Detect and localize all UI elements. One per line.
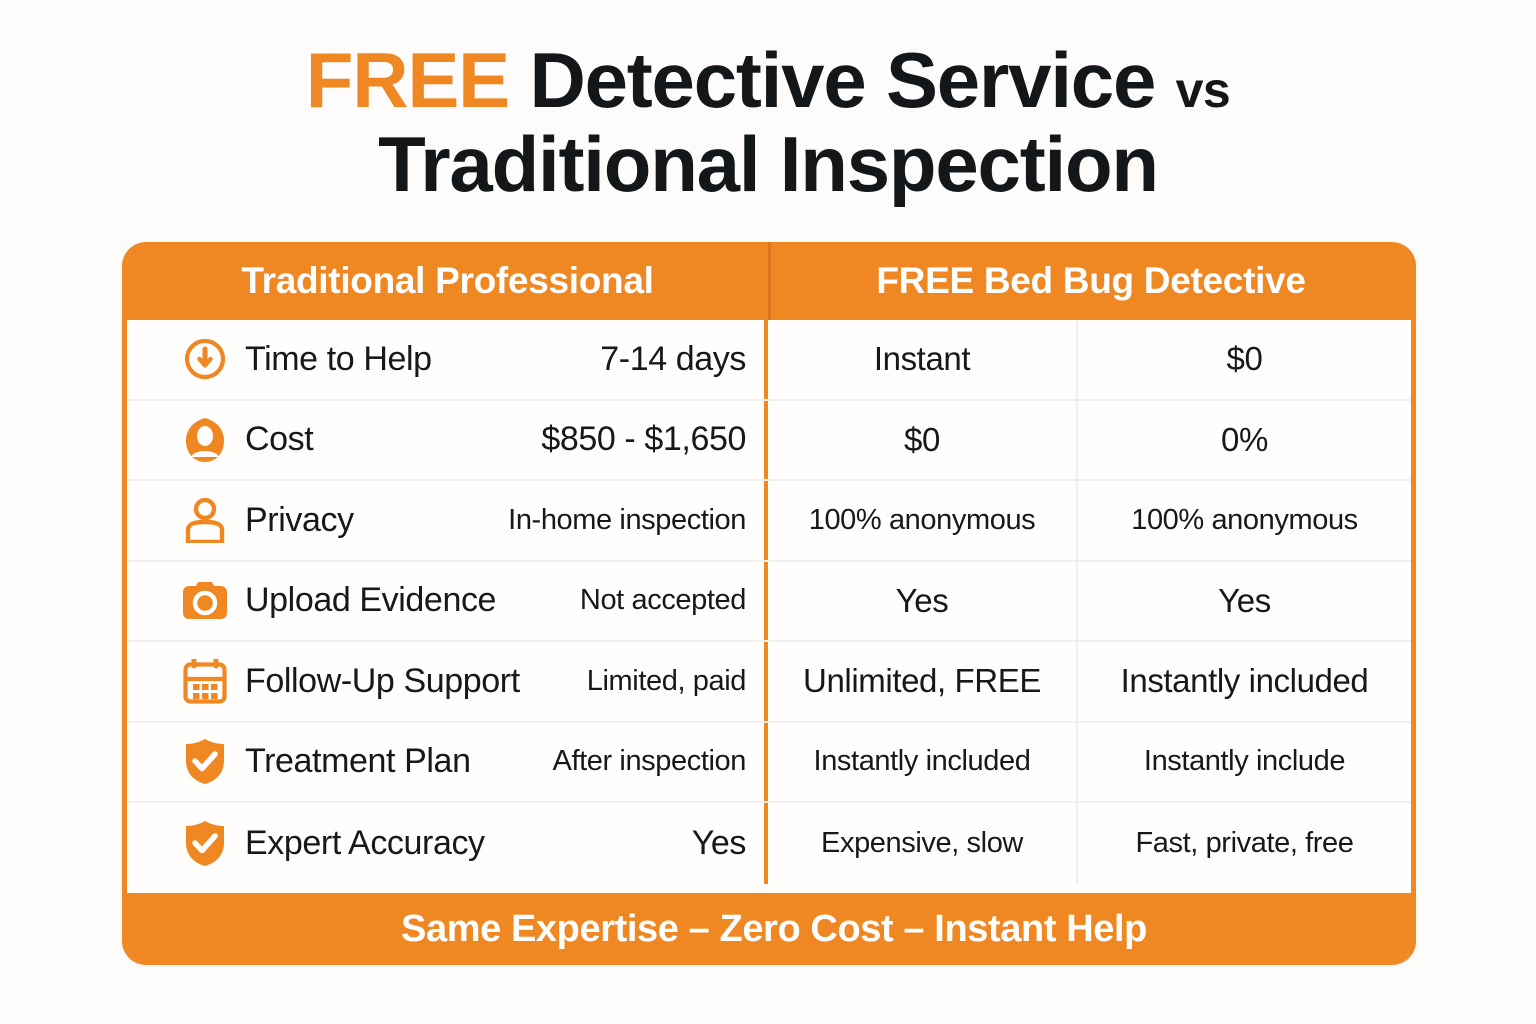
row-value-traditional: Not accepted	[580, 584, 746, 617]
row-value-extra: Fast, private, free	[1076, 803, 1411, 884]
clock-down-arrow-icon	[181, 335, 229, 383]
page-title: FREE Detective Service vs Traditional In…	[0, 38, 1536, 206]
comparison-table-card: Traditional Professional FREE Bed Bug De…	[122, 242, 1416, 965]
row-feature-cell: Expert Accuracy Yes	[127, 803, 768, 884]
row-feature-cell: Upload Evidence Not accepted	[127, 562, 768, 641]
table-row: Upload Evidence Not accepted Yes Yes	[127, 562, 1411, 643]
row-value-detective: Instantly included	[768, 723, 1076, 802]
row-value-traditional: Limited, paid	[587, 665, 746, 698]
table-row: Cost $850 - $1,650 $0 0%	[127, 401, 1411, 482]
row-value-traditional: After inspection	[553, 745, 747, 778]
row-feature-cell: Follow-Up Support Limited, paid	[127, 642, 768, 721]
page-title-line-1-rest: Detective Service	[509, 36, 1176, 124]
calendar-icon	[181, 657, 229, 705]
page-title-free-word: FREE	[306, 36, 509, 124]
camera-icon	[181, 577, 229, 625]
row-value-traditional: In-home inspection	[508, 504, 746, 537]
table-header-detective: FREE Bed Bug Detective	[768, 242, 1411, 320]
shield-check-icon	[181, 819, 229, 867]
infographic-page: FREE Detective Service vs Traditional In…	[0, 0, 1536, 1024]
row-value-detective: Yes	[768, 562, 1076, 641]
table-header-traditional: Traditional Professional	[127, 242, 768, 320]
row-value-traditional: Yes	[692, 824, 746, 863]
row-label: Treatment Plan	[245, 742, 471, 781]
row-label: Cost	[245, 420, 313, 459]
row-label: Follow-Up Support	[245, 662, 520, 701]
footer-tagline: Same Expertise – Zero Cost – Instant Hel…	[127, 893, 1416, 965]
row-value-extra: 100% anonymous	[1076, 481, 1411, 560]
row-label: Privacy	[245, 501, 354, 540]
row-value-extra: Instantly include	[1076, 723, 1411, 802]
row-label: Expert Accuracy	[245, 824, 485, 863]
person-outline-icon	[181, 496, 229, 544]
table-header-row: Traditional Professional FREE Bed Bug De…	[127, 242, 1411, 320]
user-badge-icon	[181, 416, 229, 464]
row-value-detective: Unlimited, FREE	[768, 642, 1076, 721]
row-value-detective: Instant	[768, 320, 1076, 399]
row-feature-cell: Treatment Plan After inspection	[127, 723, 768, 802]
row-value-traditional: 7-14 days	[600, 340, 746, 379]
page-title-line-2: Traditional Inspection	[0, 122, 1536, 206]
row-feature-cell: Privacy In-home inspection	[127, 481, 768, 560]
row-feature-cell: Cost $850 - $1,650	[127, 401, 768, 480]
row-value-extra: 0%	[1076, 401, 1411, 480]
row-feature-cell: Time to Help 7-14 days	[127, 320, 768, 399]
row-value-detective: $0	[768, 401, 1076, 480]
row-value-detective: 100% anonymous	[768, 481, 1076, 560]
row-value-extra: $0	[1076, 320, 1411, 399]
row-value-extra: Yes	[1076, 562, 1411, 641]
row-label: Time to Help	[245, 340, 432, 379]
table-row: Privacy In-home inspection 100% anonymou…	[127, 481, 1411, 562]
row-value-detective: Expensive, slow	[768, 803, 1076, 884]
page-title-vs: vs	[1176, 62, 1231, 118]
table-row: Expert Accuracy Yes Expensive, slow Fast…	[127, 803, 1411, 884]
row-label: Upload Evidence	[245, 581, 496, 620]
table-row: Treatment Plan After inspection Instantl…	[127, 723, 1411, 804]
table-row: Time to Help 7-14 days Instant $0	[127, 320, 1411, 401]
table-row: Follow-Up Support Limited, paid Unlimite…	[127, 642, 1411, 723]
row-value-traditional: $850 - $1,650	[541, 420, 746, 459]
page-title-line-1: FREE Detective Service vs	[0, 38, 1536, 122]
shield-check-icon	[181, 738, 229, 786]
row-value-extra: Instantly included	[1076, 642, 1411, 721]
table-body: Time to Help 7-14 days Instant $0	[127, 320, 1411, 884]
